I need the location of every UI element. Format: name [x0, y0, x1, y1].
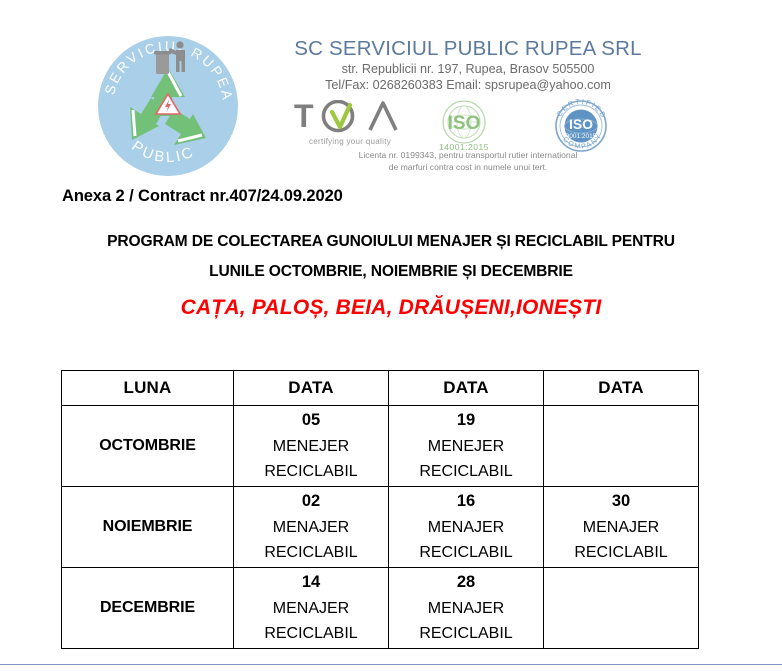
collection-day: 19 [389, 407, 543, 433]
collection-type-household: MENEJER [234, 434, 388, 460]
collection-day: 14 [234, 569, 388, 595]
collection-day: 16 [389, 488, 543, 514]
localities-line: CAȚA, PALOȘ, BEIA, DRĂUȘENI,IONEȘTI [0, 296, 782, 320]
collection-type-recyclable: RECICLABIL [389, 540, 543, 566]
collection-type-household: MENEJER [389, 434, 543, 460]
svg-text:T: T [294, 100, 314, 134]
licence-note: Licenta nr. 0199343, pentru transportul … [268, 150, 668, 173]
svg-text:ISO: ISO [569, 116, 593, 132]
schedule-cell-empty [544, 406, 699, 487]
month-name: DECEMBRIE [62, 568, 234, 649]
collection-type-household: MENAJER [389, 596, 543, 622]
program-title-line-2: LUNILE OCTOMBRIE, NOIEMBRIE ȘI DECEMBRIE [0, 257, 782, 287]
collection-type-household: MENAJER [234, 596, 388, 622]
schedule-cell: 14 MENAJER RECICLABIL [234, 568, 389, 649]
collection-type-household: MENAJER [544, 515, 698, 541]
footer-divider [0, 664, 782, 665]
collection-type-recyclable: RECICLABIL [234, 540, 388, 566]
collection-type-recyclable: RECICLABIL [234, 459, 388, 485]
schedule-cell: 16 MENAJER RECICLABIL [389, 487, 544, 568]
column-header-data-1: DATA [234, 371, 389, 406]
schedule-cell: 28 MENAJER RECICLABIL [389, 568, 544, 649]
schedule-cell-empty [544, 568, 699, 649]
company-logo: SERVICIUL RUPEA PUBLIC [92, 28, 244, 180]
licence-line-2: de marfuri contra cost in numele unui te… [268, 162, 668, 174]
collection-day: 02 [234, 488, 388, 514]
licence-line-1: Licenta nr. 0199343, pentru transportul … [268, 150, 668, 162]
collection-type-recyclable: RECICLABIL [389, 459, 543, 485]
table-row: DECEMBRIE 14 MENAJER RECICLABIL 28 MENAJ… [62, 568, 699, 649]
month-name: OCTOMBRIE [62, 406, 234, 487]
program-title-line-1: PROGRAM DE COLECTAREA GUNOIULUI MENAJER … [0, 227, 782, 257]
tqa-tagline: certifying your quality [290, 137, 410, 146]
company-contact: Tel/Fax: 0268260383 Email: spsrupea@yaho… [268, 77, 668, 93]
company-info: SC SERVICIUL PUBLIC RUPEA SRL str. Repub… [268, 38, 668, 94]
table-row: NOIEMBRIE 02 MENAJER RECICLABIL 16 MENAJ… [62, 487, 699, 568]
collection-day: 30 [544, 488, 698, 514]
column-header-data-3: DATA [544, 371, 699, 406]
recycling-circle-icon: SERVICIUL RUPEA PUBLIC [92, 28, 244, 180]
company-address: str. Republicii nr. 197, Rupea, Brasov 5… [268, 61, 668, 77]
collection-type-recyclable: RECICLABIL [544, 540, 698, 566]
certification-badges: T certifying your quality ISO 14001:2015 [268, 98, 668, 156]
company-name: SC SERVICIUL PUBLIC RUPEA SRL [268, 38, 668, 61]
collection-day: 28 [389, 569, 543, 595]
schedule-cell: 02 MENAJER RECICLABIL [234, 487, 389, 568]
letterhead: SERVICIUL RUPEA PUBLIC [0, 0, 782, 182]
schedule-cell: 19 MENEJER RECICLABIL [389, 406, 544, 487]
table-row: OCTOMBRIE 05 MENEJER RECICLABIL 19 MENEJ… [62, 406, 699, 487]
schedule-cell: 30 MENAJER RECICLABIL [544, 487, 699, 568]
collection-type-household: MENAJER [389, 515, 543, 541]
column-header-luna: LUNA [62, 371, 234, 406]
program-title: PROGRAM DE COLECTAREA GUNOIULUI MENAJER … [0, 227, 782, 288]
column-header-data-2: DATA [389, 371, 544, 406]
schedule-table-wrapper: LUNA DATA DATA DATA OCTOMBRIE 05 MENEJER… [61, 370, 698, 649]
annex-contract-line: Anexa 2 / Contract nr.407/24.09.2020 [62, 187, 343, 206]
schedule-cell: 05 MENEJER RECICLABIL [234, 406, 389, 487]
svg-text:ISO: ISO [448, 113, 481, 134]
month-name: NOIEMBRIE [62, 487, 234, 568]
collection-type-household: MENAJER [234, 515, 388, 541]
tqa-logo-icon: T certifying your quality [290, 100, 410, 146]
table-header-row: LUNA DATA DATA DATA [62, 371, 699, 406]
collection-type-recyclable: RECICLABIL [234, 621, 388, 647]
collection-type-recyclable: RECICLABIL [389, 621, 543, 647]
collection-day: 05 [234, 407, 388, 433]
tqa-mark-icon: T [294, 100, 406, 134]
schedule-table: LUNA DATA DATA DATA OCTOMBRIE 05 MENEJER… [61, 370, 699, 649]
svg-text:9001:2015: 9001:2015 [566, 133, 597, 140]
